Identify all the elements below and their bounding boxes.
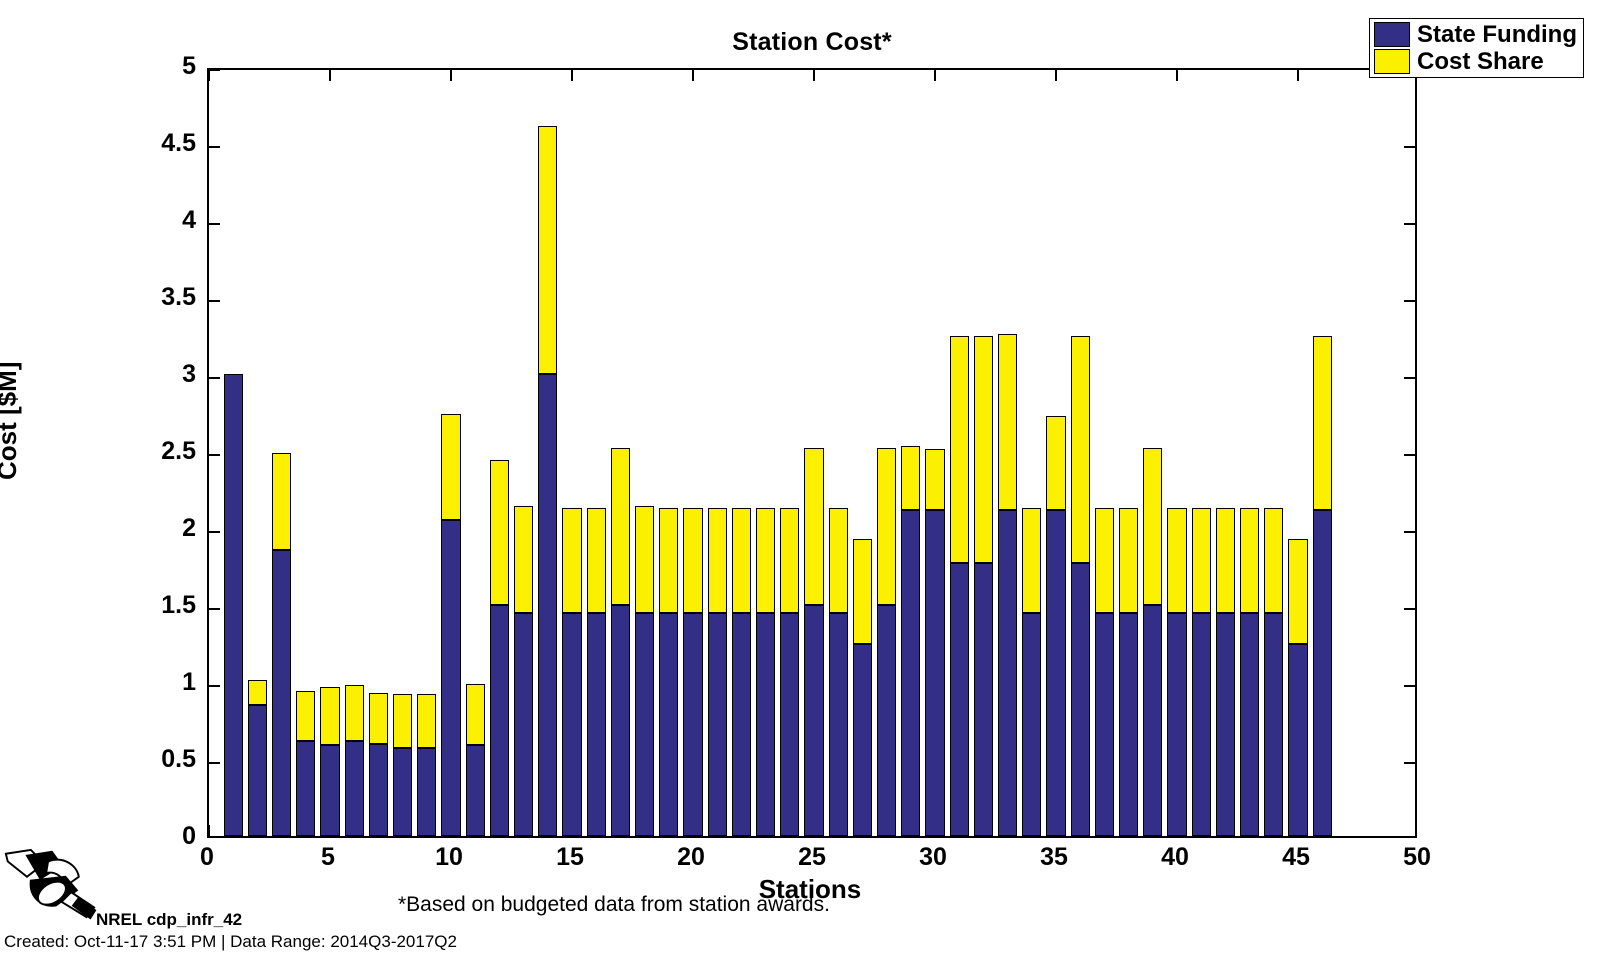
fuel-nozzle-icon <box>2 848 98 920</box>
bar-segment-cost-share <box>1167 508 1186 613</box>
chart-title: Station Cost* <box>207 28 1417 57</box>
plot-inner <box>209 70 1415 836</box>
bar-segment-state-funding <box>901 510 920 836</box>
y-axis-tick-label: 0.5 <box>126 745 196 774</box>
bar-segment-cost-share <box>901 446 920 509</box>
bar-segment-state-funding <box>732 613 751 836</box>
bar-segment-cost-share <box>272 453 291 550</box>
bar-station-1 <box>224 70 243 836</box>
bar-segment-cost-share <box>611 448 630 605</box>
y-axis-tick <box>209 762 220 764</box>
bar-station-43 <box>1240 70 1259 836</box>
y-axis-tick-label: 4 <box>126 206 196 235</box>
bar-segment-cost-share <box>393 694 412 748</box>
bar-station-16 <box>587 70 606 836</box>
bar-station-41 <box>1192 70 1211 836</box>
bar-station-14 <box>538 70 557 836</box>
bar-station-30 <box>925 70 944 836</box>
bar-segment-state-funding <box>1192 613 1211 836</box>
bar-segment-cost-share <box>1095 508 1114 613</box>
bar-segment-cost-share <box>635 506 654 612</box>
legend-label-state-funding: State Funding <box>1417 22 1577 47</box>
bar-station-44 <box>1264 70 1283 836</box>
y-axis-tick <box>1404 454 1415 456</box>
bar-segment-state-funding <box>1046 510 1065 836</box>
y-axis-tick-label: 1.5 <box>126 591 196 620</box>
bar-station-11 <box>466 70 485 836</box>
bar-segment-cost-share <box>659 508 678 613</box>
chart-footnote: *Based on budgeted data from station awa… <box>398 893 830 917</box>
bar-segment-state-funding <box>611 605 630 836</box>
bar-segment-cost-share <box>1143 448 1162 605</box>
bar-segment-state-funding <box>562 613 581 836</box>
y-axis-tick-label: 1 <box>126 668 196 697</box>
bar-segment-state-funding <box>950 563 969 836</box>
x-axis-tick-label: 35 <box>1014 843 1094 872</box>
bar-station-29 <box>901 70 920 836</box>
bar-station-18 <box>635 70 654 836</box>
bar-station-22 <box>732 70 751 836</box>
bar-segment-cost-share <box>490 460 509 605</box>
bar-station-27 <box>853 70 872 836</box>
bar-segment-state-funding <box>1119 613 1138 836</box>
bar-segment-state-funding <box>466 745 485 836</box>
bar-segment-cost-share <box>998 334 1017 510</box>
bar-station-40 <box>1167 70 1186 836</box>
bar-segment-state-funding <box>393 748 412 836</box>
bar-segment-state-funding <box>248 705 267 836</box>
bar-station-37 <box>1095 70 1114 836</box>
x-axis-tick <box>209 825 210 836</box>
y-axis-tick <box>209 685 220 687</box>
bar-station-33 <box>998 70 1017 836</box>
bar-station-31 <box>950 70 969 836</box>
bar-station-9 <box>417 70 436 836</box>
y-axis-tick-label: 3 <box>126 360 196 389</box>
bar-segment-state-funding <box>683 613 702 836</box>
y-axis-tick <box>1404 377 1415 379</box>
bar-station-24 <box>780 70 799 836</box>
bar-segment-state-funding <box>1095 613 1114 836</box>
chart-figure: Station Cost* Cost [$M] Stations 00.511.… <box>0 0 1600 960</box>
bar-segment-state-funding <box>538 374 557 836</box>
bar-station-28 <box>877 70 896 836</box>
bar-segment-state-funding <box>1143 605 1162 836</box>
bar-station-36 <box>1071 70 1090 836</box>
created-timestamp: Created: Oct-11-17 3:51 PM | Data Range:… <box>4 932 457 952</box>
bar-segment-cost-share <box>829 508 848 613</box>
bar-segment-cost-share <box>683 508 702 613</box>
x-axis-tick-label: 30 <box>893 843 973 872</box>
bar-station-8 <box>393 70 412 836</box>
legend-swatch-state-funding <box>1374 22 1410 47</box>
y-axis-tick-label: 2 <box>126 514 196 543</box>
bar-segment-state-funding <box>635 613 654 836</box>
bar-segment-cost-share <box>538 126 557 374</box>
bar-station-46 <box>1313 70 1332 836</box>
legend-item-state-funding: State Funding <box>1374 22 1577 47</box>
x-axis-tick-label: 40 <box>1135 843 1215 872</box>
bar-segment-cost-share <box>441 414 460 520</box>
bar-segment-state-funding <box>974 563 993 836</box>
y-axis-tick <box>1404 531 1415 533</box>
y-axis-title: Cost [$M] <box>0 362 23 480</box>
x-axis-tick-label: 45 <box>1256 843 1336 872</box>
y-axis-tick <box>1404 608 1415 610</box>
bar-station-26 <box>829 70 848 836</box>
bar-segment-state-funding <box>320 745 339 836</box>
bar-segment-cost-share <box>1022 508 1041 613</box>
bar-segment-state-funding <box>441 520 460 836</box>
y-axis-tick-label: 5 <box>126 52 196 81</box>
bar-segment-state-funding <box>780 613 799 836</box>
legend-swatch-cost-share <box>1374 49 1410 74</box>
nrel-plot-id: NREL cdp_infr_42 <box>96 910 242 930</box>
bar-segment-state-funding <box>1264 613 1283 836</box>
y-axis-tick-label: 3.5 <box>126 283 196 312</box>
y-axis-tick <box>209 454 220 456</box>
bar-segment-state-funding <box>925 510 944 836</box>
bar-segment-cost-share <box>587 508 606 613</box>
y-axis-tick <box>1404 762 1415 764</box>
bar-segment-cost-share <box>1240 508 1259 613</box>
bar-station-19 <box>659 70 678 836</box>
bar-segment-cost-share <box>369 693 388 744</box>
bar-segment-state-funding <box>1071 563 1090 836</box>
bar-segment-state-funding <box>877 605 896 836</box>
bar-station-10 <box>441 70 460 836</box>
bar-segment-state-funding <box>1022 613 1041 836</box>
bar-station-42 <box>1216 70 1235 836</box>
bar-segment-state-funding <box>853 644 872 837</box>
y-axis-tick <box>209 70 220 71</box>
x-axis-tick-label: 25 <box>772 843 852 872</box>
y-axis-tick <box>209 146 220 148</box>
bar-segment-cost-share <box>1046 416 1065 510</box>
y-axis-tick-label: 2.5 <box>126 437 196 466</box>
bar-segment-cost-share <box>296 691 315 740</box>
y-axis-tick <box>209 300 220 302</box>
bar-segment-state-funding <box>345 741 364 836</box>
bar-segment-state-funding <box>417 748 436 836</box>
bar-station-15 <box>562 70 581 836</box>
y-axis-tick <box>1404 146 1415 148</box>
y-axis-tick <box>209 531 220 533</box>
bar-segment-cost-share <box>780 508 799 613</box>
bar-station-5 <box>320 70 339 836</box>
bar-segment-cost-share <box>804 448 823 605</box>
bar-segment-state-funding <box>804 605 823 836</box>
bar-segment-state-funding <box>587 613 606 836</box>
x-axis-tick <box>209 70 210 81</box>
bar-segment-cost-share <box>708 508 727 613</box>
y-axis-tick <box>1404 223 1415 225</box>
bar-segment-state-funding <box>490 605 509 836</box>
bar-station-45 <box>1288 70 1307 836</box>
bar-segment-state-funding <box>659 613 678 836</box>
x-axis-tick-label: 50 <box>1377 843 1457 872</box>
bar-station-7 <box>369 70 388 836</box>
bar-station-4 <box>296 70 315 836</box>
bar-station-13 <box>514 70 533 836</box>
bar-station-34 <box>1022 70 1041 836</box>
bar-segment-state-funding <box>829 613 848 836</box>
legend-item-cost-share: Cost Share <box>1374 49 1577 74</box>
bar-station-32 <box>974 70 993 836</box>
bar-segment-state-funding <box>1216 613 1235 836</box>
bar-segment-cost-share <box>732 508 751 613</box>
y-axis-tick <box>1404 685 1415 687</box>
bar-segment-state-funding <box>272 550 291 836</box>
y-axis-tick-label: 4.5 <box>126 129 196 158</box>
bar-segment-cost-share <box>756 508 775 613</box>
bar-segment-state-funding <box>1288 644 1307 837</box>
bar-segment-cost-share <box>853 539 872 644</box>
bar-segment-cost-share <box>1288 539 1307 644</box>
bar-segment-state-funding <box>224 374 243 836</box>
bar-segment-state-funding <box>514 613 533 836</box>
bar-segment-state-funding <box>756 613 775 836</box>
bar-segment-cost-share <box>514 506 533 612</box>
bar-segment-cost-share <box>345 685 364 740</box>
bar-segment-cost-share <box>562 508 581 613</box>
bar-segment-cost-share <box>877 448 896 605</box>
bar-segment-cost-share <box>1216 508 1235 613</box>
bar-segment-state-funding <box>998 510 1017 836</box>
bar-segment-cost-share <box>248 680 267 705</box>
bar-station-39 <box>1143 70 1162 836</box>
bar-segment-cost-share <box>417 694 436 748</box>
bar-segment-cost-share <box>925 449 944 509</box>
bar-segment-cost-share <box>950 336 969 564</box>
bar-segment-cost-share <box>1119 508 1138 613</box>
bar-segment-cost-share <box>1071 336 1090 564</box>
bar-station-12 <box>490 70 509 836</box>
bar-segment-state-funding <box>708 613 727 836</box>
y-axis-tick <box>209 608 220 610</box>
bar-station-23 <box>756 70 775 836</box>
bar-segment-state-funding <box>369 744 388 836</box>
legend-label-cost-share: Cost Share <box>1417 49 1544 74</box>
bar-station-35 <box>1046 70 1065 836</box>
bar-station-6 <box>345 70 364 836</box>
plot-area <box>207 68 1417 838</box>
bar-station-2 <box>248 70 267 836</box>
y-axis-tick <box>209 377 220 379</box>
bar-segment-cost-share <box>1264 508 1283 613</box>
bar-segment-cost-share <box>320 687 339 746</box>
y-axis-tick <box>209 223 220 225</box>
bar-segment-cost-share <box>466 684 485 746</box>
bar-station-3 <box>272 70 291 836</box>
bar-segment-cost-share <box>1313 336 1332 510</box>
bar-segment-state-funding <box>296 741 315 836</box>
bar-segment-cost-share <box>974 336 993 564</box>
bar-station-17 <box>611 70 630 836</box>
bar-station-38 <box>1119 70 1138 836</box>
bar-segment-state-funding <box>1313 510 1332 836</box>
bar-station-25 <box>804 70 823 836</box>
y-axis-tick <box>1404 300 1415 302</box>
bar-segment-cost-share <box>1192 508 1211 613</box>
bar-segment-state-funding <box>1167 613 1186 836</box>
bar-station-21 <box>708 70 727 836</box>
bar-station-20 <box>683 70 702 836</box>
chart-legend: State Funding Cost Share <box>1369 18 1584 78</box>
bar-segment-state-funding <box>1240 613 1259 836</box>
